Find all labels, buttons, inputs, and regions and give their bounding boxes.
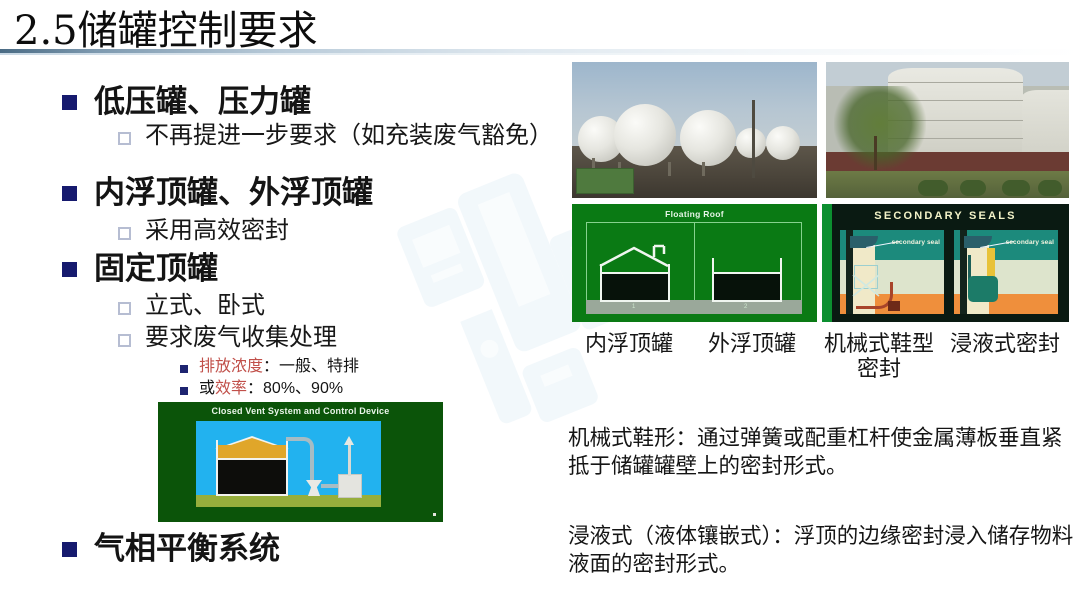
- caption-mechanical-shoe-seal: 机械式鞋型密封: [814, 332, 944, 381]
- sub-sub-bullet-square-icon: [180, 365, 188, 373]
- bullet-vapor-balance-system: 气相平衡系统: [62, 531, 280, 568]
- paragraph-liquid-mounted-seal: 浸液式（液体镶嵌式）：浮顶的边缘密封浸入储存物料液面的密封形式。: [568, 522, 1080, 579]
- floating-roof-title: Floating Roof: [572, 209, 817, 219]
- sub-bullet-square-icon: [118, 227, 131, 240]
- secondary-seal-label: secondary seal: [1006, 239, 1054, 246]
- diagram-ground: [586, 300, 802, 314]
- bullet-square-icon: [62, 95, 77, 110]
- closed-vent-system-figure: Closed Vent System and Control Device: [158, 402, 443, 522]
- secondary-seals-title: SECONDARY SEALS: [822, 210, 1069, 222]
- sub-bullet-square-icon: [118, 334, 131, 347]
- subbullet-waste-gas-collection: 要求废气收集处理: [118, 326, 337, 350]
- diagram-number-left: 1: [632, 304, 635, 310]
- bullet-label: 固定顶罐: [94, 251, 218, 288]
- bullet-fixed-roof-tank: 固定顶罐: [62, 251, 218, 288]
- tank-leg: [668, 162, 671, 176]
- slide-header: 2.5储罐控制要求: [0, 0, 1080, 56]
- sub-sub-bullet-square-icon: [180, 387, 188, 395]
- tank-liquid: [216, 460, 288, 496]
- tank-vapor-space: [218, 445, 286, 459]
- horizontal-duct: [321, 484, 339, 488]
- caption-internal-floating-roof: 内浮顶罐: [568, 332, 690, 381]
- sphere-tank: [736, 128, 766, 158]
- page-title: 2.5储罐控制要求: [14, 0, 318, 56]
- sub-bullet-square-icon: [118, 302, 131, 315]
- efficiency-term: 效率: [215, 380, 247, 397]
- subsubbullet-label: 排放浓度：一般、特排: [199, 358, 359, 376]
- shrub: [960, 180, 986, 196]
- figure-captions-row: 内浮顶罐 外浮顶罐 机械式鞋型密封 浸液式密封: [568, 332, 1076, 381]
- vent-pipe: [286, 437, 314, 483]
- shrub: [918, 180, 948, 196]
- cylindrical-tanks-photo: [826, 62, 1069, 198]
- slide-root: 2.5储罐控制要求 低压罐、压力罐 不再提进一步要求（如充装废气豁免） 内浮顶罐…: [0, 0, 1080, 607]
- right-content-column: Floating Roof 1 2: [560, 56, 1080, 607]
- mechanical-shoe-seal-panel: secondary seal: [840, 230, 944, 314]
- utility-pole: [752, 100, 755, 178]
- subsubbullet-efficiency: 或效率：80%、90%: [180, 380, 343, 398]
- tank-leg: [702, 162, 705, 176]
- sphere-tank: [680, 110, 736, 166]
- subbullet-high-efficiency-seal: 采用高效密封: [118, 219, 289, 243]
- emission-concentration-term: 排放浓度: [199, 358, 263, 375]
- bullet-square-icon: [62, 542, 77, 557]
- subbullet-label: 立式、卧式: [145, 294, 265, 318]
- shrub: [1002, 180, 1030, 196]
- liquid-mounted-seal-panel: secondary seal: [954, 230, 1058, 314]
- bullet-low-pressure-tank: 低压罐、压力罐: [62, 84, 311, 121]
- exhaust-arrow-icon: [344, 436, 354, 445]
- sphere-tank: [614, 104, 676, 166]
- sphere-tank: [766, 126, 800, 160]
- diagram-number-right: 2: [744, 304, 747, 310]
- bullet-label: 低压罐、压力罐: [94, 84, 311, 121]
- efficiency-rest: ：80%、90%: [247, 380, 343, 397]
- sub-bullet-square-icon: [118, 132, 131, 145]
- bullet-square-icon: [62, 186, 77, 201]
- closed-vent-system-title: Closed Vent System and Control Device: [158, 406, 443, 416]
- subbullet-no-further-requirement: 不再提进一步要求（如充装废气豁免）: [118, 124, 548, 148]
- green-equipment-box: [576, 168, 634, 194]
- paragraph-mechanical-shoe-seal: 机械式鞋形：通过弹簧或配重杠杆使金属薄板垂直紧抵于储罐罐壁上的密封形式。: [568, 424, 1080, 481]
- title-divider-secondary: [0, 53, 1080, 55]
- subbullet-label: 要求废气收集处理: [145, 326, 337, 350]
- control-device: [338, 474, 362, 498]
- internal-tank-liquid: [600, 274, 670, 302]
- external-tank-liquid: [712, 274, 782, 302]
- bullet-label: 内浮顶罐、外浮顶罐: [94, 175, 373, 212]
- subbullet-vertical-horizontal: 立式、卧式: [118, 294, 265, 318]
- tree-trunk: [874, 136, 877, 170]
- spherical-tanks-photo: [572, 62, 817, 198]
- caption-external-floating-roof: 外浮顶罐: [690, 332, 814, 381]
- bullet-square-icon: [62, 262, 77, 277]
- liquid-filled-seal-pouch: [968, 276, 998, 302]
- subbullet-label: 采用高效密封: [145, 219, 289, 243]
- floating-roof-diagram: Floating Roof 1 2: [572, 204, 817, 322]
- secondary-storage-tank: [1022, 90, 1069, 152]
- secondary-seals-diagram: SECONDARY SEALS secondary seal: [822, 204, 1069, 322]
- shrub: [1038, 180, 1062, 196]
- subbullet-label: 不再提进一步要求（如充装废气豁免）: [145, 124, 545, 148]
- figure-corner-dot: [433, 513, 436, 516]
- bullet-label: 气相平衡系统: [94, 531, 280, 568]
- subsubbullet-emission-concentration: 排放浓度：一般、特排: [180, 358, 359, 376]
- efficiency-prefix: 或: [199, 380, 215, 397]
- subsubbullet-label: 或效率：80%、90%: [199, 380, 343, 398]
- secondary-seal-label: secondary seal: [892, 239, 940, 246]
- bullet-floating-roof-tanks: 内浮顶罐、外浮顶罐: [62, 175, 373, 212]
- caption-liquid-mounted-seal: 浸液式密封: [944, 332, 1066, 381]
- seal-anchor-block: [888, 301, 900, 311]
- emission-concentration-rest: ：一般、特排: [263, 358, 359, 375]
- tank-band: [888, 82, 1023, 83]
- foreground-tree: [834, 86, 926, 170]
- internal-roof-gable-outline: [598, 244, 670, 268]
- left-content-column: 低压罐、压力罐 不再提进一步要求（如充装废气豁免） 内浮顶罐、外浮顶罐 采用高效…: [0, 62, 560, 607]
- exhaust-stack: [348, 444, 351, 476]
